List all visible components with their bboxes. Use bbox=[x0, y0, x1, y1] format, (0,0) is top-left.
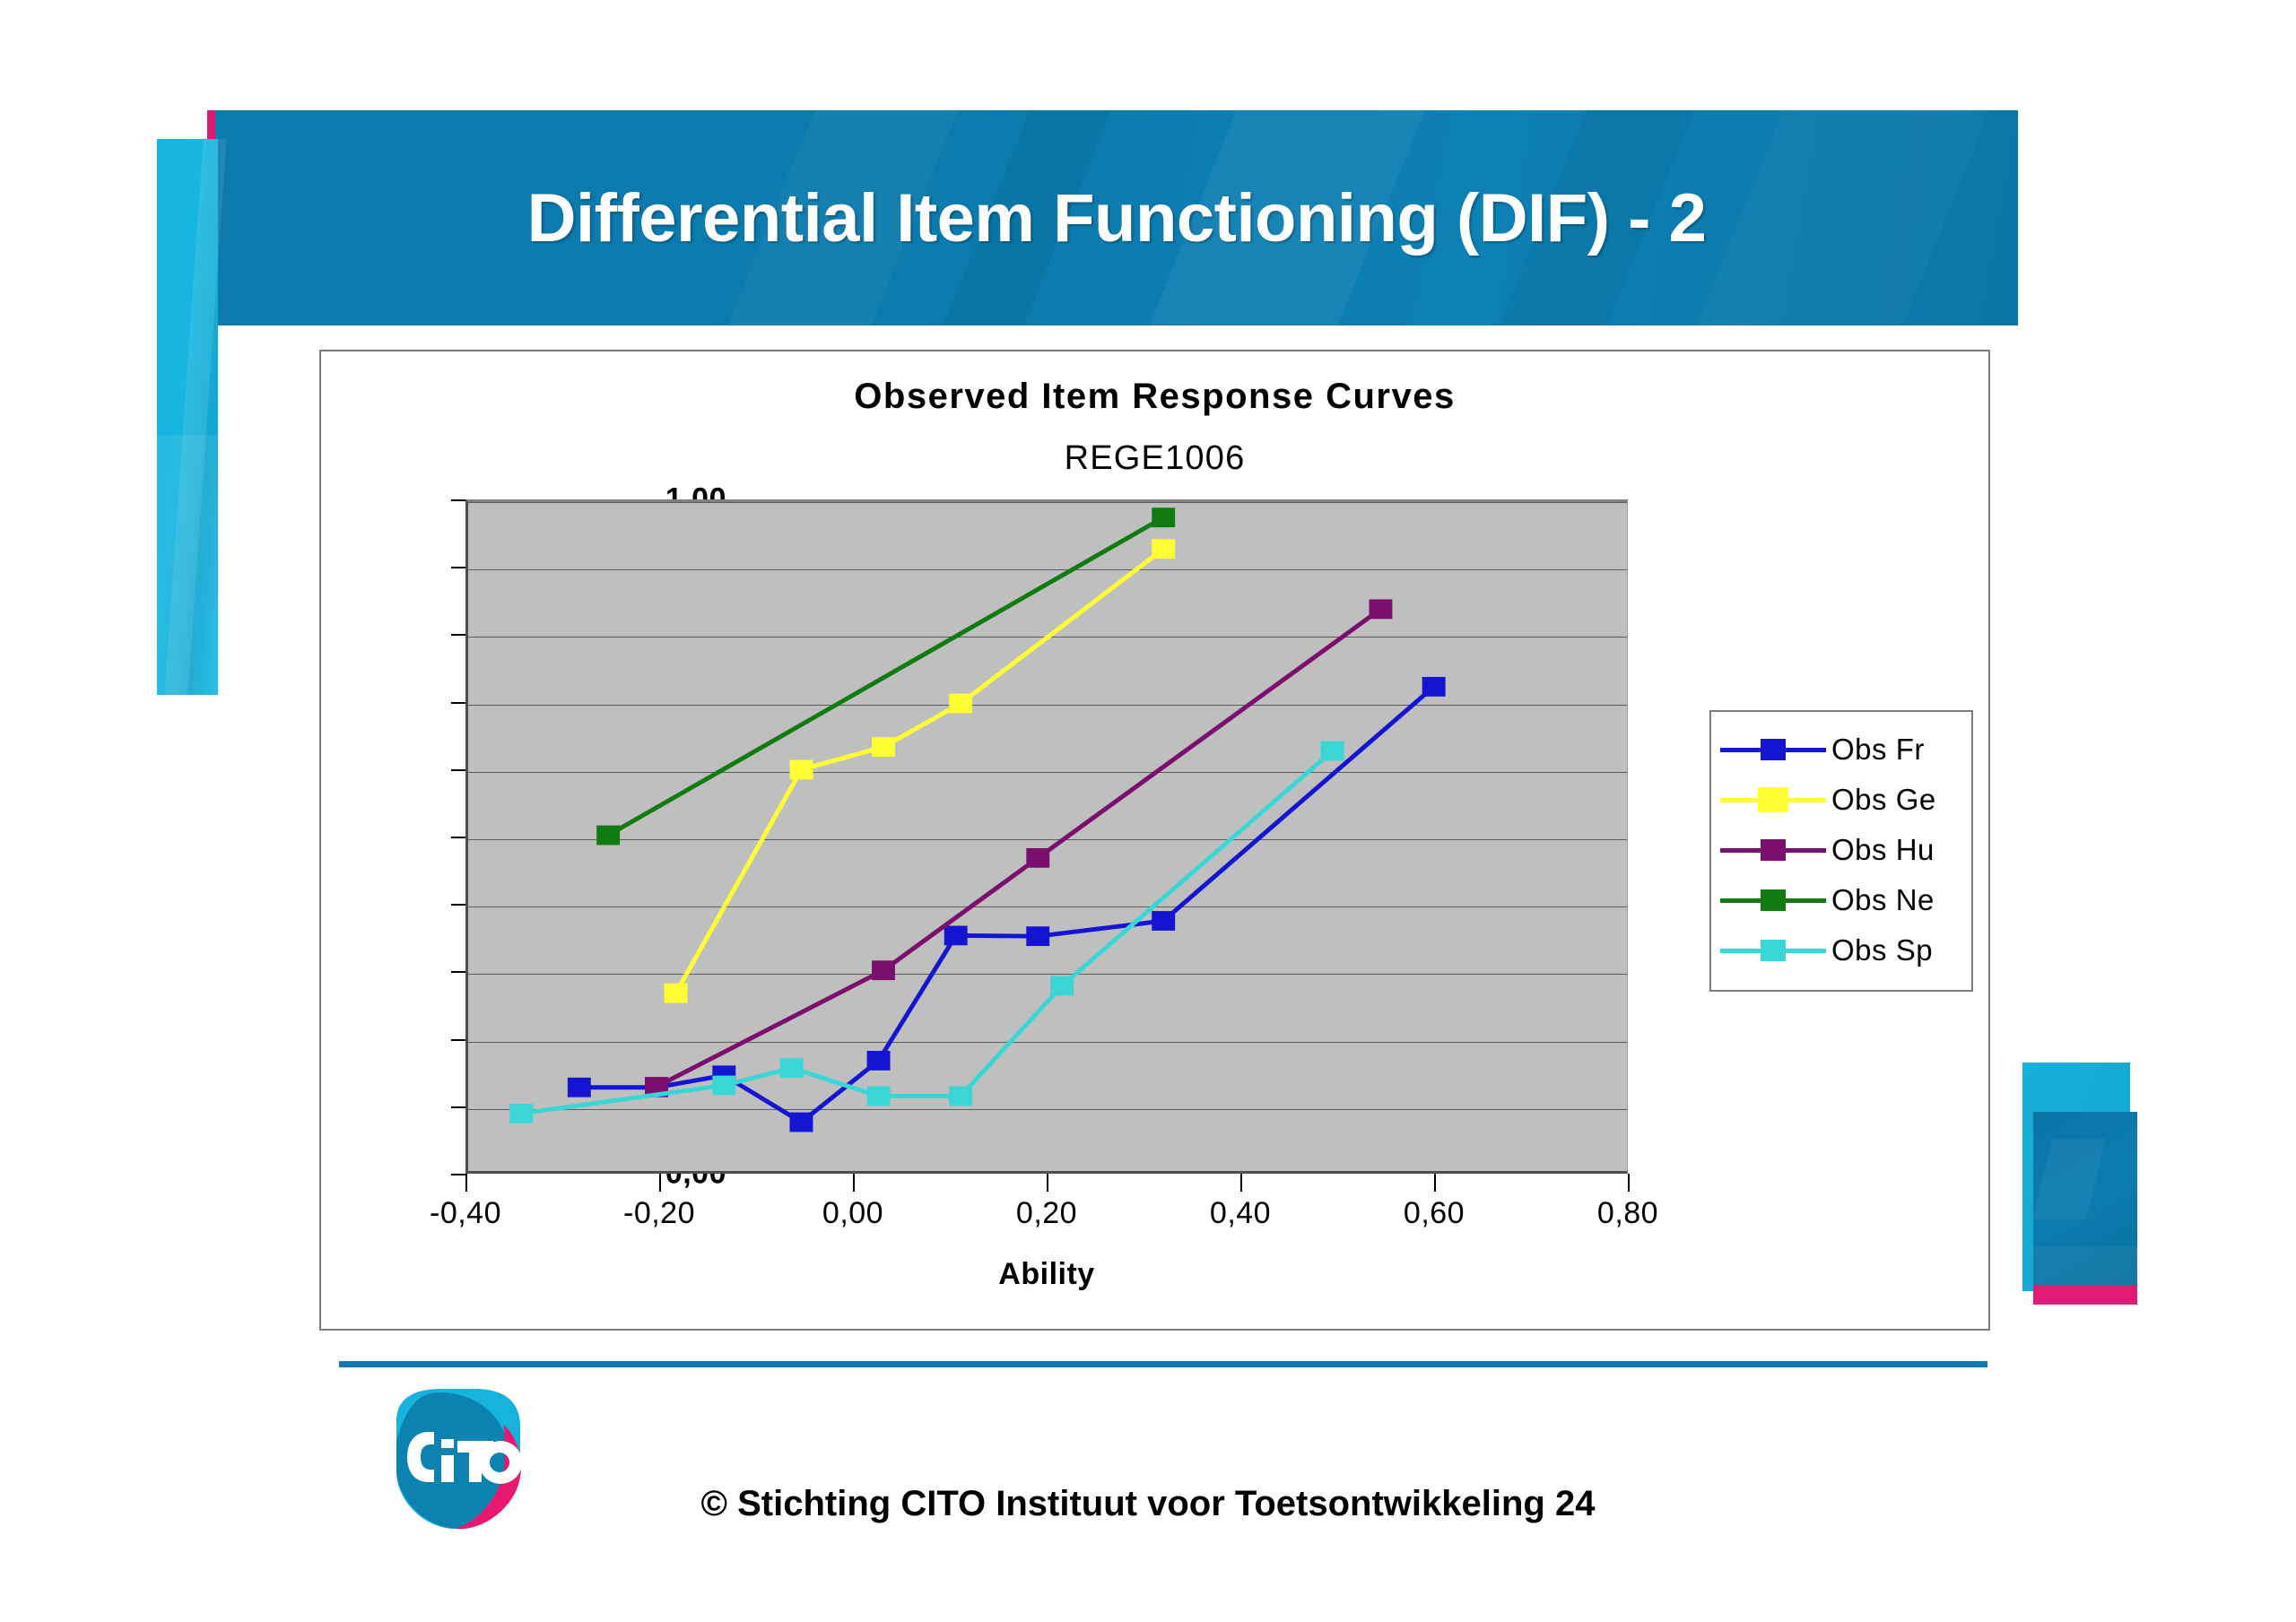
x-axis-tick bbox=[1434, 1174, 1436, 1192]
data-point-marker bbox=[1369, 599, 1392, 619]
chart-subtitle: REGE1006 bbox=[321, 439, 1988, 478]
series-obs-ge bbox=[665, 539, 1176, 1002]
data-point-marker bbox=[1152, 911, 1175, 931]
y-axis-tick bbox=[451, 499, 465, 501]
legend-item-label: Obs Ge bbox=[1831, 783, 1936, 817]
series-line bbox=[608, 517, 1163, 835]
x-axis-title: Ability bbox=[465, 1257, 1628, 1292]
x-axis-tick-label: 0,40 bbox=[1210, 1196, 1271, 1231]
x-axis-tick bbox=[1047, 1174, 1048, 1192]
y-axis-tick bbox=[451, 769, 465, 771]
data-point-marker bbox=[780, 1058, 804, 1078]
legend-swatch-icon bbox=[1720, 786, 1826, 813]
x-axis-tick-label: -0,20 bbox=[623, 1196, 695, 1231]
data-point-marker bbox=[867, 1087, 891, 1106]
y-axis-tick bbox=[451, 1039, 465, 1041]
data-point-marker bbox=[509, 1104, 533, 1123]
data-point-marker bbox=[712, 1076, 735, 1096]
data-point-marker bbox=[789, 759, 813, 779]
data-point-marker bbox=[1422, 677, 1446, 697]
y-axis-tick bbox=[451, 567, 465, 568]
footer-divider bbox=[339, 1361, 1987, 1367]
y-axis-tick bbox=[451, 971, 465, 973]
legend-item-obs-ge[interactable]: Obs Ge bbox=[1720, 775, 1962, 825]
series-svg bbox=[468, 502, 1627, 1171]
x-axis-tick-label: 0,20 bbox=[1016, 1196, 1077, 1231]
x-axis-tick-label: 0,00 bbox=[822, 1196, 883, 1231]
page-title: Differential Item Functioning (DIF) - 2 bbox=[215, 110, 2018, 325]
y-axis-tick bbox=[451, 1106, 465, 1108]
left-decorative-bar bbox=[157, 139, 218, 695]
x-axis-tick bbox=[465, 1174, 467, 1192]
chart-legend: Obs FrObs GeObs HuObs NeObs Sp bbox=[1709, 710, 1973, 992]
legend-swatch-icon bbox=[1720, 736, 1826, 763]
data-point-marker bbox=[949, 1087, 972, 1106]
y-axis-tick bbox=[451, 837, 465, 838]
legend-swatch-icon bbox=[1720, 837, 1826, 863]
chart-container: Observed Item Response Curves REGE1006 0… bbox=[319, 350, 1990, 1331]
data-point-marker bbox=[944, 925, 968, 945]
data-point-marker bbox=[1152, 507, 1175, 527]
legend-item-obs-ne[interactable]: Obs Ne bbox=[1720, 875, 1962, 925]
x-axis-tick bbox=[659, 1174, 661, 1192]
series-line bbox=[521, 751, 1332, 1114]
y-axis-tick bbox=[451, 904, 465, 906]
data-point-marker bbox=[949, 694, 972, 714]
series-obs-sp bbox=[509, 742, 1344, 1123]
data-point-marker bbox=[1152, 539, 1175, 559]
plot-area bbox=[465, 499, 1628, 1174]
series-obs-ne bbox=[596, 507, 1175, 845]
data-point-marker bbox=[1026, 848, 1049, 868]
legend-swatch-icon bbox=[1720, 937, 1826, 964]
right-decorative-block bbox=[2022, 1063, 2137, 1305]
data-point-marker bbox=[872, 737, 895, 757]
y-axis-tick bbox=[451, 702, 465, 704]
legend-item-label: Obs Hu bbox=[1831, 833, 1935, 867]
footer-text: © Stichting CITO Instituut voor Toetsont… bbox=[0, 1484, 2296, 1524]
data-point-marker bbox=[665, 984, 688, 1003]
data-point-marker bbox=[1321, 742, 1344, 761]
x-axis-tick-label: 0,80 bbox=[1597, 1196, 1658, 1231]
legend-item-label: Obs Fr bbox=[1831, 733, 1925, 767]
x-axis-tick-label: -0,40 bbox=[430, 1196, 501, 1231]
data-point-marker bbox=[867, 1051, 891, 1071]
data-point-marker bbox=[1050, 976, 1074, 995]
data-point-marker bbox=[596, 826, 620, 846]
series-line bbox=[579, 687, 1434, 1123]
y-axis-tick bbox=[451, 634, 465, 636]
chart-title: Observed Item Response Curves bbox=[321, 377, 1988, 417]
x-axis-tick-label: 0,60 bbox=[1404, 1196, 1465, 1231]
data-point-marker bbox=[568, 1078, 591, 1097]
legend-item-obs-fr[interactable]: Obs Fr bbox=[1720, 724, 1962, 775]
data-point-marker bbox=[789, 1113, 813, 1132]
legend-item-label: Obs Ne bbox=[1831, 883, 1935, 917]
series-line bbox=[675, 549, 1163, 993]
data-point-marker bbox=[1026, 926, 1049, 946]
x-axis-tick bbox=[1628, 1174, 1630, 1192]
data-point-marker bbox=[872, 960, 895, 980]
legend-item-obs-hu[interactable]: Obs Hu bbox=[1720, 825, 1962, 875]
legend-item-label: Obs Sp bbox=[1831, 933, 1933, 967]
x-axis-tick bbox=[1240, 1174, 1242, 1192]
series-line bbox=[657, 609, 1380, 1087]
legend-swatch-icon bbox=[1720, 887, 1826, 914]
y-axis-tick bbox=[451, 1174, 465, 1175]
x-axis-tick bbox=[853, 1174, 855, 1192]
legend-item-obs-sp[interactable]: Obs Sp bbox=[1720, 925, 1962, 976]
